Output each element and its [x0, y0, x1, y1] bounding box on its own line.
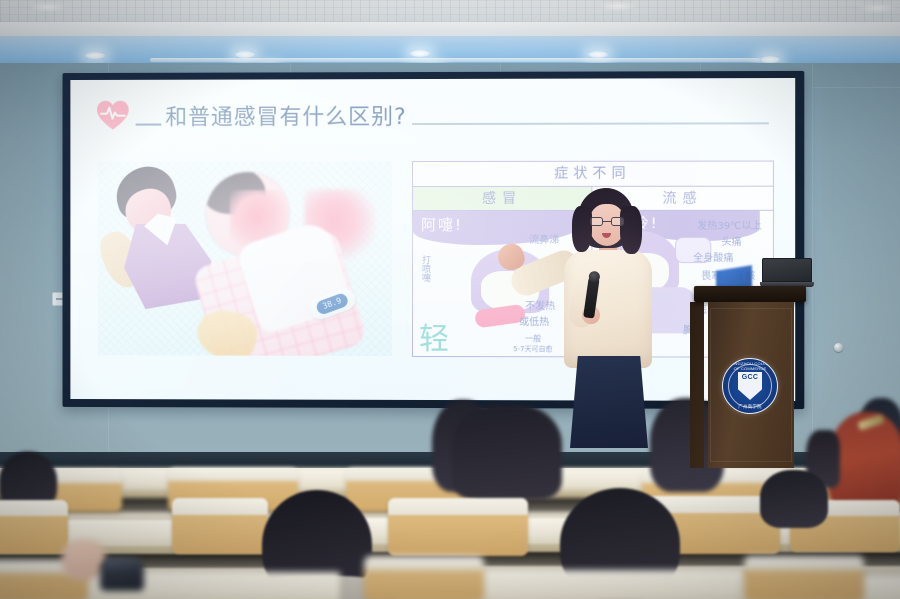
title-rule-right	[412, 122, 769, 125]
cold-severity-word: 轻	[419, 314, 452, 356]
chair[interactable]	[744, 556, 864, 599]
downlight	[235, 51, 255, 58]
college-logo: GUANGZHOU COLLEGE OF COMMERCE GCC 广州商学院	[722, 358, 778, 414]
downlight	[410, 50, 430, 57]
slide-illustration: 38.9	[98, 161, 392, 356]
downlight	[760, 56, 780, 63]
ceiling-tile-light	[860, 3, 896, 13]
glasses-icon	[590, 217, 624, 226]
ceiling-tile-light	[600, 1, 636, 11]
audience-head	[760, 470, 828, 528]
presenter-trousers	[570, 356, 648, 448]
ceiling-rail	[150, 58, 760, 62]
ceiling-tile-light	[30, 2, 66, 12]
audience-head	[452, 404, 562, 500]
flu-note-fever: 发热39℃以上	[697, 217, 762, 232]
speech-bubble-cold-text: 阿嚏!	[421, 214, 463, 235]
ceiling-beam	[0, 22, 900, 36]
presenter-hair-right	[620, 206, 642, 254]
lecture-hall-photo: 和普通感冒有什么区别? 38.9	[0, 0, 900, 599]
chair[interactable]	[172, 498, 268, 554]
laptop[interactable]	[760, 258, 814, 288]
wall-fixture-icon	[834, 343, 843, 352]
cold-note-sneeze: 打喷嚏	[419, 255, 431, 282]
downlight	[85, 52, 105, 59]
flu-note-headache: 头痛	[721, 233, 741, 248]
wall-seam	[812, 87, 900, 88]
logo-chinese-name: 广州商学院	[723, 404, 777, 410]
chair[interactable]	[364, 556, 484, 599]
downlight	[588, 51, 608, 58]
title-rule-left	[136, 124, 162, 126]
podium: GUANGZHOU COLLEGE OF COMMERCE GCC 广州商学院	[700, 286, 800, 468]
podium-top	[694, 286, 806, 302]
chair[interactable]	[0, 500, 68, 554]
ceiling-tiles	[0, 0, 900, 22]
slide-header: 和普通感冒有什么区别?	[96, 92, 775, 139]
heartbeat-icon	[96, 100, 130, 132]
chair[interactable]	[388, 498, 528, 556]
table-title: 症状不同	[413, 162, 773, 187]
laptop-screen	[762, 258, 812, 282]
camera-lens-icon	[104, 558, 140, 570]
logo-outer-text: GUANGZHOU COLLEGE OF COMMERCE	[723, 361, 777, 371]
podium-side-column	[690, 302, 704, 468]
presenter-hair-left	[572, 206, 592, 252]
slide-title: 和普通感冒有什么区别?	[165, 99, 406, 131]
logo-abbrev: GCC	[738, 374, 762, 381]
